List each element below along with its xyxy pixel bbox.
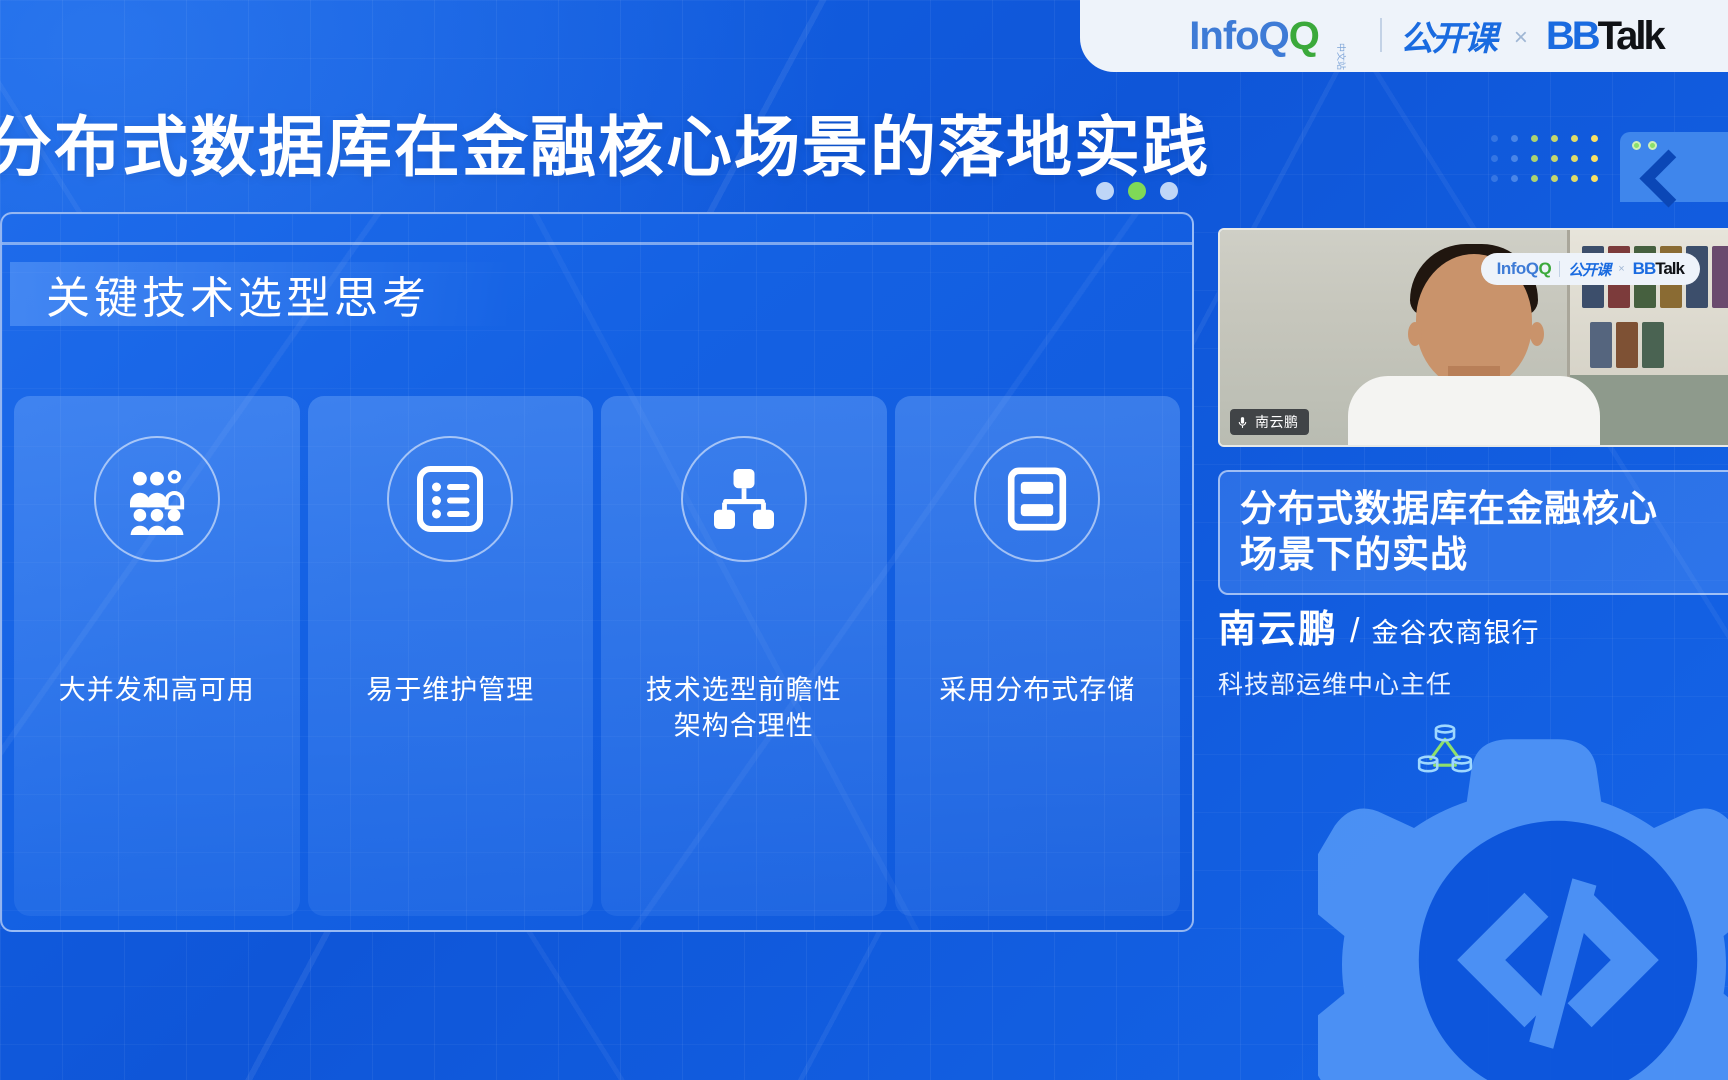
- bbtalk-logo: BBTalk: [1546, 16, 1663, 56]
- brand-divider: [1380, 18, 1382, 52]
- speaker-organization: 金谷农商银行: [1371, 611, 1539, 650]
- dot: [1551, 135, 1558, 142]
- slide-brand-badge: InfoQQ 公开课 × BBTalk: [1481, 253, 1700, 285]
- card-label: 采用分布式存储: [939, 672, 1135, 708]
- chevron-left-icon: [1640, 150, 1698, 208]
- list-checklist-icon: [387, 436, 513, 562]
- brand-bar: InfoQQ 中文站 公开课 × BBTalk: [1080, 0, 1728, 72]
- speaker-ear-right: [1530, 322, 1544, 346]
- dot: [1511, 175, 1518, 182]
- card-row: 大并发和高可用 易于维护管理: [14, 396, 1180, 916]
- badge-cross-symbol: ×: [1618, 263, 1624, 275]
- talk-title-line-1: 分布式数据库在金融核心: [1240, 486, 1726, 532]
- card-item[interactable]: 技术选型前瞻性 架构合理性: [601, 396, 887, 916]
- page-title: 分布式数据库在金融核心场景的落地实践: [0, 94, 1210, 190]
- dot: [1591, 175, 1598, 182]
- speaker-ear-left: [1408, 322, 1422, 346]
- dot-1: [1096, 182, 1114, 200]
- talk-title-box: 分布式数据库在金融核心 场景下的实战: [1218, 470, 1728, 595]
- card-label: 技术选型前瞻性 架构合理性: [646, 672, 842, 745]
- dot: [1571, 175, 1578, 182]
- hierarchy-sitemap-icon: [681, 436, 807, 562]
- infoq-logo-subtext: 中文站: [1335, 43, 1348, 70]
- users-group-icon: [94, 436, 220, 562]
- dot: [1511, 135, 1518, 142]
- cross-symbol: ×: [1514, 24, 1528, 52]
- speaker-name: 南云鹏: [1218, 598, 1338, 653]
- dot: [1511, 155, 1518, 162]
- chevron-left-decoration: [1620, 132, 1728, 202]
- card-label: 大并发和高可用: [59, 672, 255, 708]
- card-item[interactable]: 采用分布式存储: [895, 396, 1181, 916]
- speaker-shirt: [1348, 376, 1600, 447]
- dot: [1531, 135, 1538, 142]
- card-item[interactable]: 大并发和高可用: [14, 396, 300, 916]
- card-item[interactable]: 易于维护管理: [308, 396, 594, 916]
- decorative-dot-grid: [1484, 128, 1604, 188]
- title-dot-indicators: [1096, 182, 1178, 200]
- speaker-role: 科技部运维中心主任: [1218, 665, 1728, 701]
- led-dots: [1632, 141, 1657, 150]
- speaker-name-row: 南云鹏 / 金谷农商银行: [1218, 598, 1728, 653]
- dot-2-active: [1128, 182, 1146, 200]
- dot: [1491, 155, 1498, 162]
- dot: [1551, 155, 1558, 162]
- microphone-icon: [1236, 416, 1249, 429]
- dot: [1531, 155, 1538, 162]
- infoq-logo: InfoQQ: [1189, 16, 1319, 56]
- slide-header: 关键技术选型思考: [10, 262, 510, 326]
- dot-3: [1160, 182, 1178, 200]
- mic-name-badge: 南云鹏: [1230, 409, 1309, 435]
- presentation-slide[interactable]: 关键技术选型思考 大并发和高可用: [0, 212, 1194, 932]
- badge-bbtalk-logo: BBTalk: [1633, 259, 1684, 279]
- badge-course-logo: 公开课: [1568, 259, 1610, 280]
- slide-section-title: 关键技术选型思考: [46, 262, 430, 326]
- badge-bbtalk-bb: BB: [1633, 259, 1656, 278]
- dot: [1491, 135, 1498, 142]
- mic-speaker-name: 南云鹏: [1255, 412, 1299, 432]
- open-course-logo: 公开课: [1400, 22, 1496, 56]
- dot: [1591, 135, 1598, 142]
- dot: [1491, 175, 1498, 182]
- screen-root: InfoQQ 中文站 公开课 × BBTalk 分布式数据库在金融核心场景的落地…: [0, 0, 1728, 1080]
- speaker-separator: /: [1350, 612, 1359, 651]
- card-label: 易于维护管理: [366, 672, 534, 708]
- speaker-info: 南云鹏 / 金谷农商银行 科技部运维中心主任: [1218, 598, 1728, 701]
- slide-top-rule: [2, 242, 1192, 245]
- bbtalk-bb: BB: [1546, 14, 1598, 58]
- badge-infoq-text: InfoQ: [1497, 259, 1539, 278]
- bbtalk-talk: Talk: [1598, 14, 1663, 58]
- dot: [1591, 155, 1598, 162]
- dot: [1551, 175, 1558, 182]
- dot: [1571, 155, 1578, 162]
- badge-infoq-logo: InfoQQ: [1497, 259, 1552, 279]
- badge-bbtalk-talk: Talk: [1655, 259, 1684, 278]
- infoq-logo-text: InfoQ: [1189, 14, 1288, 58]
- dot: [1571, 135, 1578, 142]
- badge-divider: [1559, 261, 1560, 277]
- dot: [1531, 175, 1538, 182]
- database-storage-icon: [974, 436, 1100, 562]
- distributed-database-icon: [1414, 720, 1476, 782]
- talk-title-line-2: 场景下的实战: [1240, 532, 1726, 578]
